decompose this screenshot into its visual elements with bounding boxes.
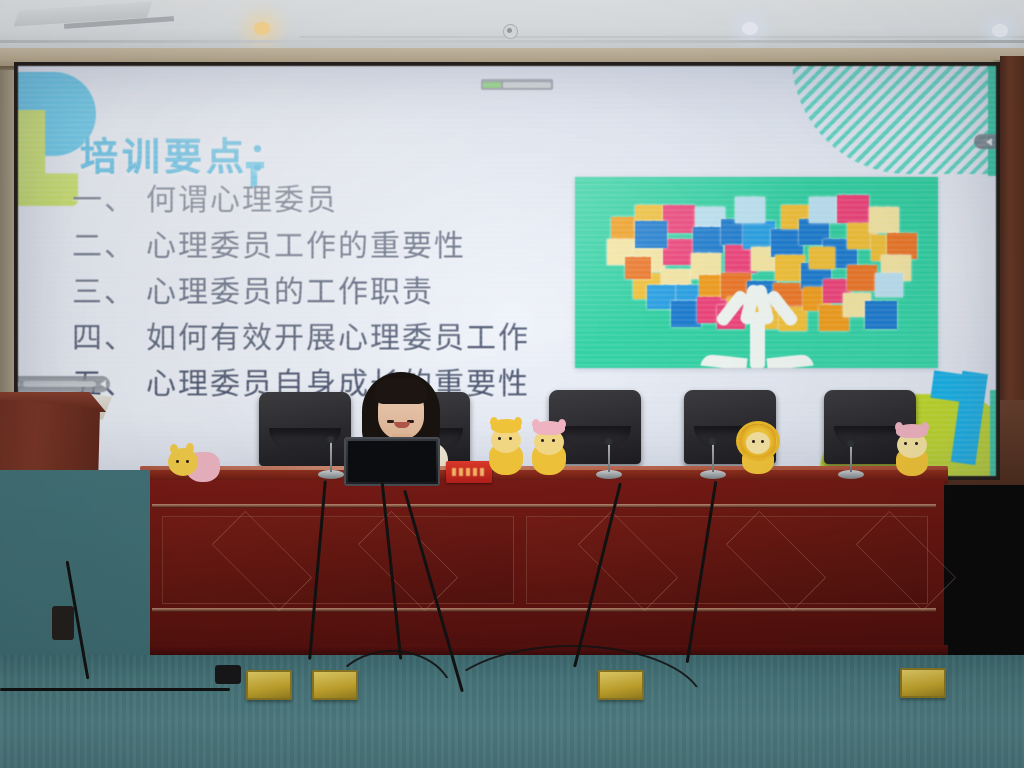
microphone-head: [327, 436, 334, 443]
plush-yellow-tiger-left: [487, 419, 525, 475]
floor-outlet-1: [246, 670, 292, 700]
slide-bullet-2-number: 二、: [72, 232, 146, 262]
slide-bullet-1: 一、 何谓心理委员: [72, 186, 530, 216]
heart-shape: [837, 195, 869, 223]
plush-eye: [752, 440, 755, 443]
microphone-head: [605, 438, 612, 445]
heart-shape: [809, 247, 835, 269]
slide-top-toolbar-overlay[interactable]: [481, 79, 553, 90]
slide-bullet-4: 四、 如何有效开展心理委员工作: [72, 324, 530, 354]
slide-bullet-list: 一、 何谓心理委员 二、 心理委员工作的重要性 三、 心理委员的工作职责 四、 …: [72, 186, 530, 416]
slide-bottom-left-overlay-bar[interactable]: [18, 376, 110, 392]
heart-shape: [847, 265, 877, 291]
plush-ear: [170, 444, 178, 454]
heart-shape: [865, 301, 897, 329]
overlay-avatar-icon: [18, 379, 19, 390]
slide-deco-bottom-right-edge: [990, 390, 996, 476]
red-name-placard: [446, 461, 492, 483]
smoke-detector: [503, 24, 518, 39]
ceiling-seam: [0, 40, 1024, 43]
podium-adapter: [52, 606, 74, 640]
slide-deco-top-right-hatch: [792, 66, 996, 174]
plush-ear: [514, 417, 522, 427]
plush-yellow-lion: [736, 422, 780, 474]
heart-shape: [735, 197, 765, 223]
heart-shape: [663, 205, 695, 233]
microphone-arm: [712, 442, 714, 472]
slide-bullet-4-number: 四、: [72, 324, 146, 354]
ceiling-panel-line: [300, 36, 1024, 38]
heart-shape: [869, 207, 899, 233]
microphone-arm: [608, 442, 610, 472]
tree-root-left: [700, 354, 747, 368]
presenter-laptop[interactable]: [344, 437, 440, 486]
plush-eye: [498, 437, 501, 440]
heart-shape: [809, 197, 839, 223]
tree-root-right: [766, 354, 813, 368]
ceiling-spotlight-3: [992, 24, 1008, 37]
plush-ear: [490, 417, 498, 427]
conference-table-front: [144, 480, 944, 655]
slide-deco-top-right-edge: [988, 66, 996, 176]
table-panel-left: [162, 516, 514, 604]
plush-head: [746, 432, 770, 454]
plush-pink-bunny-right: [892, 424, 934, 476]
chair-1: [259, 392, 351, 466]
plush-ear: [921, 422, 929, 432]
plush-eye: [509, 437, 512, 440]
heart-shape: [663, 239, 693, 265]
slide-right-collapse-button[interactable]: [974, 134, 996, 149]
floor-outlet-4: [900, 668, 946, 698]
plush-ear: [895, 422, 903, 432]
table-panel-right: [526, 516, 928, 604]
tree-stem: [750, 312, 765, 368]
screenshot-root: 培训要点： 一、 何谓心理委员 二、 心理委员工作的重要性 三、 心理委员的工作…: [0, 0, 1024, 768]
slide-bullet-4-text: 如何有效开展心理委员工作: [146, 324, 530, 354]
presenter-bangs: [374, 378, 428, 404]
power-adapter: [215, 665, 241, 684]
plush-eye: [552, 439, 555, 442]
microphone-arm: [850, 444, 852, 472]
heart-shape: [611, 217, 637, 240]
plush-eye: [176, 460, 179, 463]
plush-eye: [904, 442, 907, 445]
microphone-head: [847, 440, 854, 447]
overlay-label: [23, 381, 96, 387]
plush-ear: [558, 419, 566, 429]
ceiling-spotlight-1: [254, 22, 270, 35]
heart-shape: [635, 221, 667, 248]
plush-ear: [186, 443, 194, 453]
plush-ear: [532, 419, 540, 429]
table-rail-lower: [152, 608, 936, 612]
floor-cable: [0, 688, 230, 691]
slide-bullet-3-text: 心理委员的工作职责: [146, 278, 434, 308]
microphone-arm: [330, 440, 332, 472]
tree-trunk: [697, 290, 817, 368]
plush-pink-hat-tiger: [530, 421, 568, 475]
heart-shape: [693, 227, 723, 253]
slide-bullet-3-number: 三、: [72, 278, 146, 308]
plush-eye: [915, 442, 918, 445]
heart-shape: [625, 257, 651, 279]
slide-bullet-2: 二、 心理委员工作的重要性: [72, 232, 530, 262]
slide-bullet-2-text: 心理委员工作的重要性: [146, 232, 466, 262]
ceiling: [0, 0, 1024, 52]
plush-eye: [761, 440, 764, 443]
slide-bullet-1-text: 何谓心理委员: [146, 186, 338, 216]
slide-bullet-3: 三、 心理委员的工作职责: [72, 278, 530, 308]
plush-pink-bunny: [166, 446, 222, 482]
toolbar-label-chip: [503, 82, 551, 88]
microphone-head: [709, 438, 716, 445]
table-rail-upper: [152, 504, 936, 508]
ceiling-spotlight-2: [742, 22, 758, 35]
plush-eye: [186, 460, 189, 463]
heart-shape: [875, 273, 903, 297]
toolbar-green-chip: [483, 82, 501, 88]
chevron-left-icon: [986, 138, 992, 146]
slide-title: 培训要点：: [80, 126, 290, 181]
presenter-eye-left: [387, 420, 394, 423]
slide-bullet-1-number: 一、: [72, 186, 146, 216]
plush-eye: [541, 439, 544, 442]
heart-tree-illustration: [575, 177, 938, 368]
chevron-left-icon[interactable]: [100, 380, 106, 388]
